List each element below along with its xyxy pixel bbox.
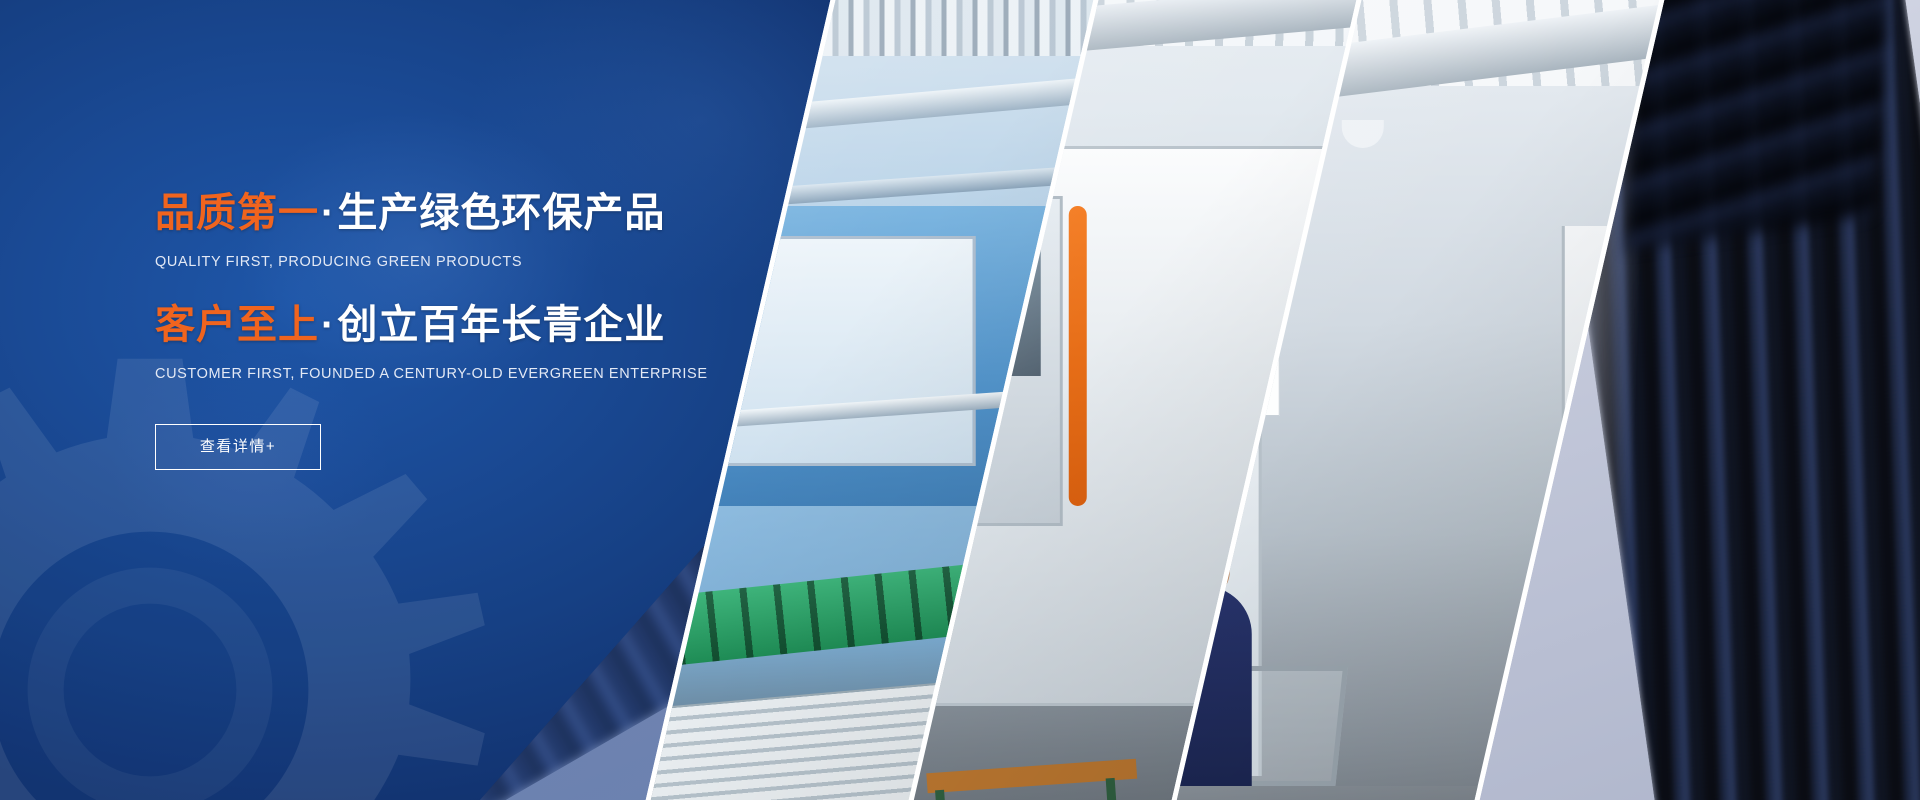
subheadline-primary-english: QUALITY FIRST, PRODUCING GREEN PRODUCTS <box>155 254 815 270</box>
headline-secondary-rest: 创立百年长青企业 <box>337 303 665 347</box>
headline-primary-rest: 生产绿色环保产品 <box>337 191 665 235</box>
headline-primary-separator: · <box>319 191 337 235</box>
headline-secondary: 客户至上·创立百年长青企业 <box>155 300 815 350</box>
headline-secondary-accent: 客户至上 <box>155 303 319 347</box>
hero-content: 品质第一·生产绿色环保产品 QUALITY FIRST, PRODUCING G… <box>155 188 815 470</box>
view-details-button[interactable]: 查看详情+ <box>155 424 321 470</box>
headline-secondary-separator: · <box>319 303 337 347</box>
subheadline-secondary-english: CUSTOMER FIRST, FOUNDED A CENTURY-OLD EV… <box>155 366 815 382</box>
hero-banner: 品质第一·生产绿色环保产品 QUALITY FIRST, PRODUCING G… <box>0 0 1920 800</box>
headline-primary-accent: 品质第一 <box>155 191 319 235</box>
headline-primary: 品质第一·生产绿色环保产品 <box>155 188 815 238</box>
